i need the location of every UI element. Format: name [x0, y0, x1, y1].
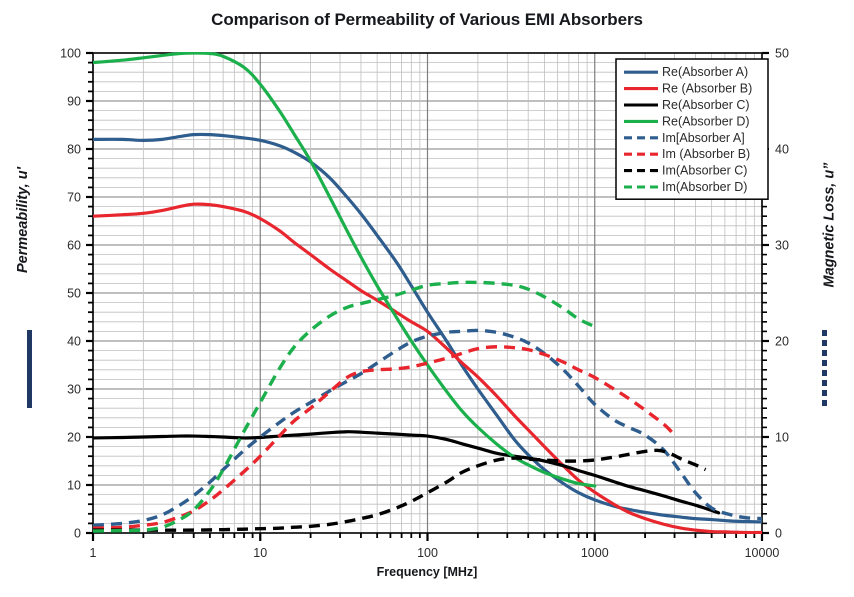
- y-axis-left-tick-label: 10: [67, 479, 81, 493]
- plot-area: 0102030405060708090100010203040501101001…: [0, 0, 854, 597]
- legend-box: [616, 59, 768, 199]
- y-axis-left-tick-label: 100: [60, 47, 81, 61]
- x-axis-tick-label: 1: [90, 546, 97, 560]
- y-axis-right-tick-label: 30: [775, 239, 789, 253]
- legend-label-2[interactable]: Re (Absorber B): [662, 82, 752, 96]
- x-axis-tick-label: 100: [417, 546, 438, 560]
- x-axis-tick-label: 10: [253, 546, 267, 560]
- legend-label-7[interactable]: Im(Absorber C): [662, 164, 747, 178]
- y-axis-right-tick-label: 10: [775, 431, 789, 445]
- y-axis-right-tick-label: 50: [775, 47, 789, 61]
- y-axis-right-tick-label: 0: [775, 527, 782, 541]
- legend-label-6[interactable]: Im (Absorber B): [662, 147, 750, 161]
- y-axis-left-tick-label: 30: [67, 383, 81, 397]
- y-axis-left-tick-label: 60: [67, 239, 81, 253]
- chart-container: Comparison of Permeability of Various EM…: [0, 0, 854, 597]
- y-axis-left-tick-label: 20: [67, 431, 81, 445]
- legend-label-3[interactable]: Re(Absorber C): [662, 98, 750, 112]
- x-axis-tick-label: 10000: [745, 546, 780, 560]
- legend-label-4[interactable]: Re(Absorber D): [662, 114, 750, 128]
- y-axis-left-tick-label: 40: [67, 335, 81, 349]
- legend-label-1[interactable]: Re(Absorber A): [662, 65, 748, 79]
- y-axis-left-tick-label: 80: [67, 143, 81, 157]
- y-axis-right-tick-label: 40: [775, 143, 789, 157]
- y-axis-left-tick-label: 70: [67, 191, 81, 205]
- y-axis-left-tick-label: 0: [74, 527, 81, 541]
- y-axis-left-tick-label: 50: [67, 287, 81, 301]
- y-axis-right-tick-label: 20: [775, 335, 789, 349]
- x-axis-tick-label: 1000: [581, 546, 609, 560]
- legend-label-8[interactable]: Im(Absorber D): [662, 180, 747, 194]
- legend: Re(Absorber A)Re (Absorber B)Re(Absorber…: [616, 59, 768, 199]
- y-axis-left-tick-label: 90: [67, 95, 81, 109]
- legend-label-5[interactable]: Im[Absorber A]: [662, 131, 745, 145]
